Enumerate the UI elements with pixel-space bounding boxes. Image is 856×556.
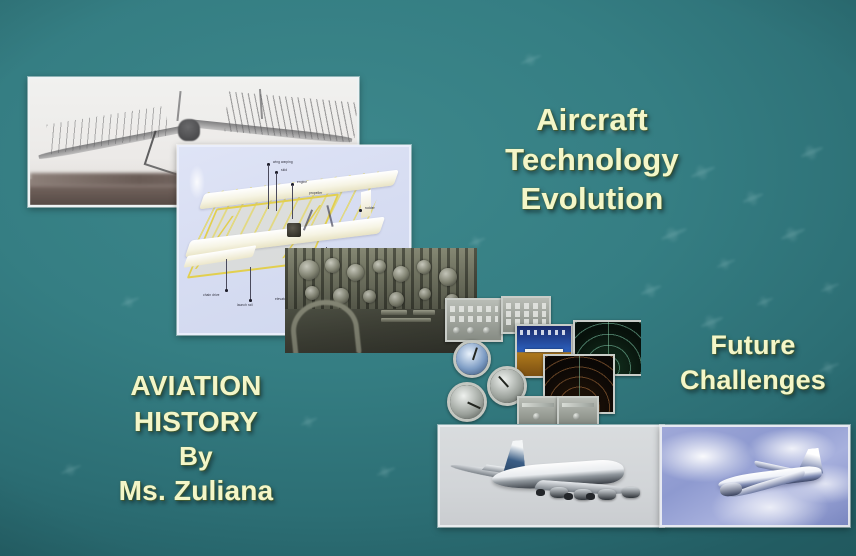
callout-leader (292, 185, 293, 219)
flyer-engine (287, 223, 301, 237)
diagram-highlight (189, 165, 205, 199)
heading-line-2: Challenges (642, 363, 856, 398)
callout-dot (249, 299, 252, 302)
wright-callout-2: engine (297, 180, 307, 184)
a380-engine-3 (598, 489, 616, 500)
heading-line-1: Aircraft (452, 100, 732, 140)
callout-leader (250, 267, 251, 299)
wright-callout-4: rudder (365, 206, 375, 210)
radio-panel-right (557, 396, 599, 424)
callout-leader (276, 173, 277, 211)
heading-line-1: Future (642, 328, 856, 363)
wright-callout-0: wing warping (273, 160, 293, 164)
altimeter-gauge (447, 382, 487, 422)
title-line-aviation: AVIATION (62, 368, 330, 404)
avionics-collage (443, 296, 641, 424)
dreamliner-photo (660, 425, 850, 527)
wright-callout-1: skid (281, 168, 287, 172)
glider-mast-right (176, 91, 181, 121)
a380-photo (438, 425, 664, 527)
presentation-slide: wing warping skid engine propeller rudde… (0, 0, 856, 556)
callout-leader (226, 259, 227, 289)
heading-aircraft-technology-evolution: Aircraft Technology Evolution (452, 100, 732, 219)
wright-callout-3: propeller (309, 191, 322, 195)
title-line-author: Ms. Zuliana (62, 473, 330, 509)
heading-line-2: Technology (452, 140, 732, 180)
radio-panel-left (517, 396, 559, 424)
callout-leader (268, 165, 269, 209)
a380-main-gear-right (586, 493, 595, 500)
title-line-history: HISTORY (62, 404, 330, 440)
flyer-rudder (361, 190, 371, 218)
a380-nose-gear (536, 489, 545, 496)
a380-engine-4 (622, 487, 640, 498)
heading-line-3: Evolution (452, 179, 732, 219)
title-line-by: By (62, 440, 330, 473)
wright-callout-7: launch rail (237, 303, 253, 307)
a380-main-gear-left (564, 493, 573, 500)
heading-future-challenges: Future Challenges (642, 328, 856, 397)
wright-callout-6: chain drive (203, 293, 220, 297)
callout-dot (225, 289, 228, 292)
attitude-indicator (453, 340, 491, 378)
glider-pilot (178, 119, 200, 141)
avionics-control-head (445, 298, 503, 342)
slide-title-block: AVIATION HISTORY By Ms. Zuliana (62, 368, 330, 509)
callout-dot (359, 209, 362, 212)
